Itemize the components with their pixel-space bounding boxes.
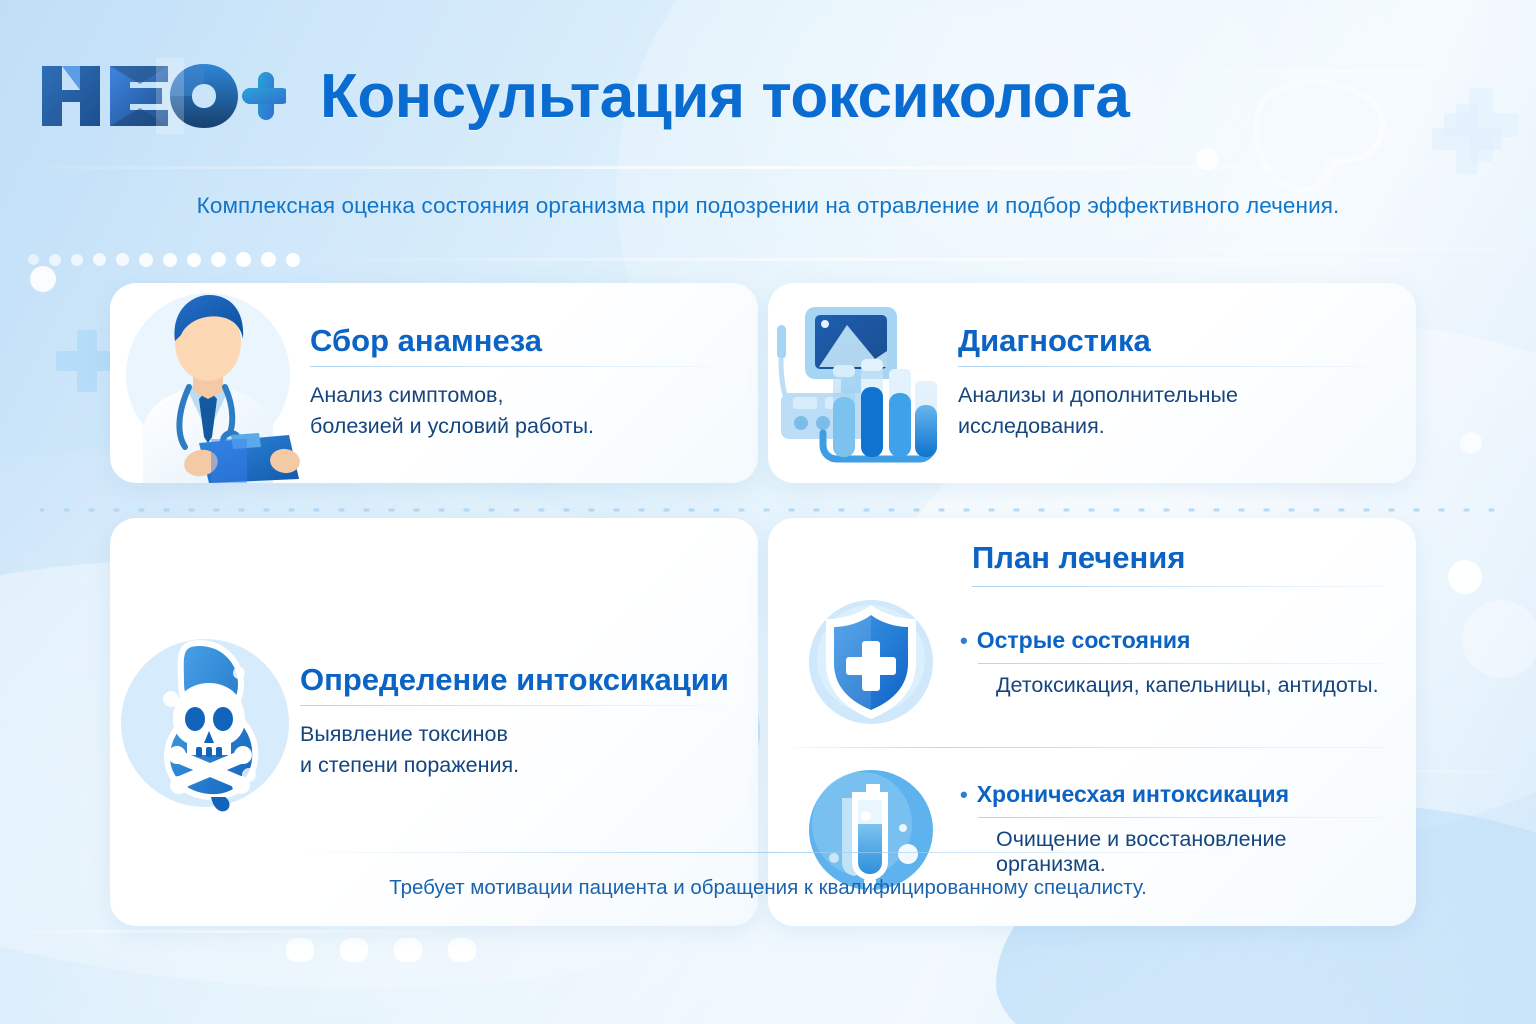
plan-item-heading: Острые состояния bbox=[977, 627, 1191, 654]
decor-circle-3 bbox=[1460, 432, 1482, 454]
page-subtitle: Комплексная оценка состояния организма п… bbox=[0, 193, 1536, 219]
plan-title: План лечения bbox=[972, 540, 1386, 576]
medical-cross-icon-left bbox=[56, 330, 118, 392]
plan-item-chronic-text: • Хроничесхая интоксикация Очищение и во… bbox=[960, 781, 1386, 877]
card-text-line-1: Анализы и дополнительные bbox=[958, 380, 1390, 411]
bullet-icon: • bbox=[960, 630, 968, 652]
card-diagnostics[interactable]: Диагностика Анализы и дополнительные исс… bbox=[768, 283, 1416, 483]
card-intoxication[interactable]: Определение интоксикации Выявление токси… bbox=[110, 518, 758, 926]
card-text-line-1: Выявление токсинов bbox=[300, 719, 732, 750]
page-title: Консультация токсиколога bbox=[320, 61, 1129, 132]
plan-item-acute[interactable]: • Острые состояния Детоксикация, капельн… bbox=[794, 591, 1386, 733]
card-text-line-1: Анализ симптомов, bbox=[310, 380, 732, 411]
decor-circle-5 bbox=[1196, 148, 1218, 170]
card-anamnesis[interactable]: Сбор анамнеза Анализ симптомов, болезией… bbox=[110, 283, 758, 483]
plan-item-divider bbox=[978, 663, 1386, 664]
card-divider bbox=[310, 366, 732, 367]
doctor-with-clipboard-icon bbox=[110, 283, 306, 483]
footer-note: Требует мотивации пациента и обращения к… bbox=[0, 876, 1536, 900]
plan-item-divider bbox=[978, 817, 1386, 818]
card-divider bbox=[958, 366, 1390, 367]
decor-circle-4 bbox=[1462, 600, 1536, 678]
plan-item-description: Детоксикация, капельницы, антидоты. bbox=[960, 673, 1386, 698]
card-text-line-2: и степени поражения. bbox=[300, 750, 732, 781]
poster-header: Консультация токсиколога bbox=[36, 58, 1496, 134]
dot-row-bottom bbox=[286, 938, 476, 962]
footer-divider bbox=[292, 852, 1244, 853]
divider-line-upper bbox=[300, 258, 1536, 261]
dot-row-left bbox=[28, 252, 300, 267]
card-divider bbox=[300, 705, 732, 706]
card-title: Определение интоксикации bbox=[300, 664, 732, 697]
card-title: Сбор анамнеза bbox=[310, 325, 732, 358]
skull-crossbones-poison-icon bbox=[110, 518, 296, 926]
decor-circle-2 bbox=[1448, 560, 1482, 594]
brand-logo-neo-plus bbox=[36, 58, 286, 134]
card-treatment-plan[interactable]: План лечения bbox=[768, 518, 1416, 926]
card-text-line-2: исследования. bbox=[958, 411, 1390, 442]
divider-line-topright-2 bbox=[1130, 248, 1536, 251]
plan-item-heading: Хроничесхая интоксикация bbox=[977, 781, 1289, 808]
decor-circle-1 bbox=[30, 266, 56, 292]
cards-grid: Сбор анамнеза Анализ симптомов, болезией… bbox=[110, 283, 1416, 926]
bullet-icon: • bbox=[960, 784, 968, 806]
card-intoxication-body: Определение интоксикации Выявление токси… bbox=[296, 518, 758, 926]
card-diagnostics-body: Диагностика Анализы и дополнительные исс… bbox=[954, 283, 1416, 483]
card-anamnesis-body: Сбор анамнеза Анализ симптомов, болезией… bbox=[306, 283, 758, 483]
lab-equipment-test-tubes-icon bbox=[768, 283, 954, 483]
infographic-poster: Консультация токсиколога Комплексная оце… bbox=[0, 0, 1536, 1024]
plan-items-separator bbox=[794, 747, 1386, 748]
shield-cross-icon bbox=[794, 591, 948, 733]
card-text-line-2: болезией и условий работы. bbox=[310, 411, 732, 442]
card-title: Диагностика bbox=[958, 325, 1390, 358]
plan-divider bbox=[972, 586, 1386, 587]
divider-line-bottomleft bbox=[0, 930, 460, 933]
plan-item-acute-text: • Острые состояния Детоксикация, капельн… bbox=[960, 627, 1386, 698]
divider-line-top bbox=[0, 166, 1536, 169]
